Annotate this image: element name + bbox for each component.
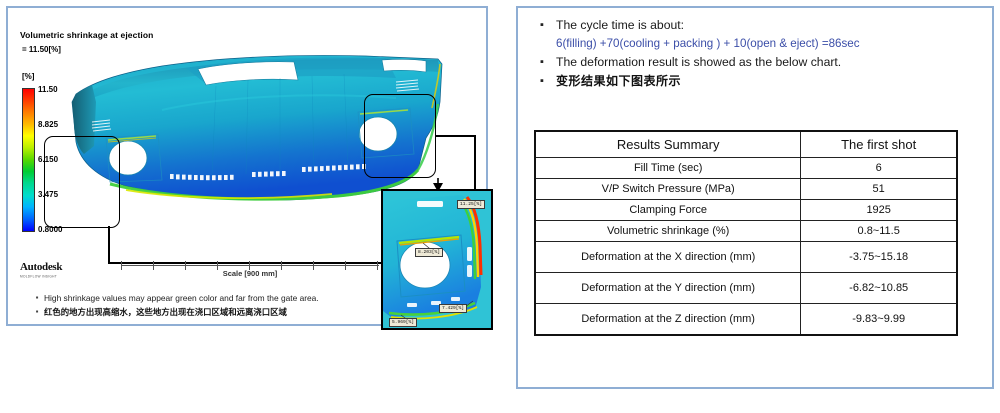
cycle-time-formula: 6(filling) +70(cooling + packing ) + 10(… [556, 36, 988, 51]
table-row: Deformation at the Z direction (mm) -9.8… [535, 304, 957, 336]
inset-tag-1: 8.203[%] [415, 248, 443, 257]
bullet-text-1: The deformation result is showed as the … [556, 55, 841, 70]
row-value-vp-switch-pressure: 51 [801, 179, 957, 200]
results-summary-table: Results Summary The first shot Fill Time… [534, 130, 958, 336]
row-label-fill-time: Fill Time (sec) [535, 158, 801, 179]
cae-result-panel: Volumetric shrinkage at ejection = 11.50… [6, 6, 488, 326]
row-label-deformation-x: Deformation at the X direction (mm) [535, 242, 801, 273]
row-label-deformation-y: Deformation at the Y direction (mm) [535, 273, 801, 304]
autodesk-wordmark: Autodesk [20, 262, 62, 273]
leader-right-vertical [474, 135, 476, 193]
row-label-volumetric-shrinkage: Volumetric shrinkage (%) [535, 221, 801, 242]
note-bullet-icon: ▪ [30, 292, 44, 304]
row-value-deformation-x: -3.75~15.18 [801, 242, 957, 273]
row-label-clamping-force: Clamping Force [535, 200, 801, 221]
table-row: Deformation at the X direction (mm) -3.7… [535, 242, 957, 273]
inset-tag-3: 5.969[%] [389, 318, 417, 327]
leader-right-horizontal [436, 135, 476, 137]
legend-unit-label: [%] [22, 72, 34, 81]
note-bullet-icon-2: ▪ [30, 306, 44, 318]
bullet-icon-0: ▪ [528, 18, 556, 33]
summary-panel: ▪ The cycle time is about: 6(filling) +7… [516, 6, 994, 389]
table-row: V/P Switch Pressure (MPa) 51 [535, 179, 957, 200]
row-value-deformation-y: -6.82~10.85 [801, 273, 957, 304]
table-row: Fill Time (sec) 6 [535, 158, 957, 179]
bullet-icon-1: ▪ [528, 55, 556, 70]
leader-left-vertical [108, 226, 110, 264]
table-row: Deformation at the Y direction (mm) -6.8… [535, 273, 957, 304]
autodesk-logo: Autodesk MOLDFLOW INSIGHT [20, 262, 62, 278]
inset-detail-mesh [383, 191, 493, 330]
bullet-item-deformation-cn: ▪ 变形结果如下图表所示 [528, 74, 988, 89]
table-row: Volumetric shrinkage (%) 0.8~11.5 [535, 221, 957, 242]
row-value-clamping-force: 1925 [801, 200, 957, 221]
row-value-deformation-z: -9.83~9.99 [801, 304, 957, 336]
bullet-list: ▪ The cycle time is about: 6(filling) +7… [528, 18, 988, 93]
inset-detail-view: 11.25[%] 8.203[%] 7.429[%] 5.969[%] [381, 189, 493, 330]
table-header-value: The first shot [801, 131, 957, 158]
bullet-item-deformation: ▪ The deformation result is showed as th… [528, 55, 988, 70]
row-value-volumetric-shrinkage: 0.8~11.5 [801, 221, 957, 242]
table-row: Clamping Force 1925 [535, 200, 957, 221]
bullet-text-0: The cycle time is about: [556, 18, 684, 33]
color-legend-bar [22, 88, 35, 232]
row-label-deformation-z: Deformation at the Z direction (mm) [535, 304, 801, 336]
inset-tag-2: 7.429[%] [439, 304, 467, 313]
bullet-item-cycle-time: ▪ The cycle time is about: [528, 18, 988, 33]
highlight-box-left [44, 136, 120, 228]
row-value-fill-time: 6 [801, 158, 957, 179]
highlight-box-right [364, 94, 436, 178]
scale-bar: Scale [900 mm] [121, 261, 379, 281]
slide-root: Volumetric shrinkage at ejection = 11.50… [0, 0, 1000, 413]
bullet-icon-2: ▪ [528, 74, 556, 89]
scale-bar-label: Scale [900 mm] [121, 269, 379, 278]
inset-tag-0: 11.25[%] [457, 200, 485, 209]
note-text-cn: 红色的地方出现高缩水，这些地方出现在浇口区域和远离浇口区域 [44, 306, 287, 318]
note-text-en: High shrinkage values may appear green c… [44, 292, 319, 304]
row-label-vp-switch-pressure: V/P Switch Pressure (MPa) [535, 179, 801, 200]
table-header-label: Results Summary [535, 131, 801, 158]
table-header-row: Results Summary The first shot [535, 131, 957, 158]
autodesk-tagline: MOLDFLOW INSIGHT [20, 274, 62, 278]
bullet-text-2: 变形结果如下图表所示 [556, 74, 681, 89]
